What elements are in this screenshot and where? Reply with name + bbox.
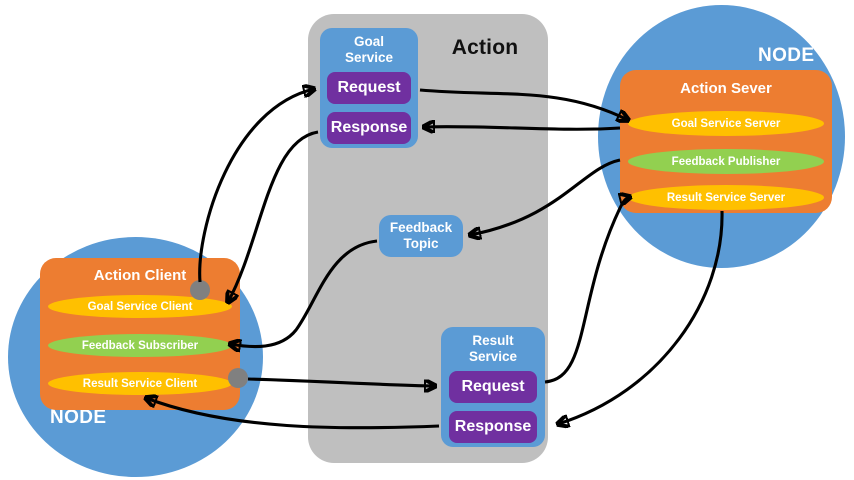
action-client-title: Action Client (40, 267, 240, 284)
result-service-box: Result Service Request Response (441, 327, 545, 447)
goal-service-response-pill[interactable]: Response (327, 112, 411, 144)
goal-service-title: Goal Service (320, 34, 418, 66)
result-service-title-line1: Result (472, 333, 513, 348)
result-service-title-line2: Service (469, 349, 517, 364)
feedback-publisher-ellipse[interactable]: Feedback Publisher (628, 149, 824, 174)
action-server-box: Action Sever Goal Service Server Feedbac… (620, 70, 832, 213)
result-client-connector-dot (228, 368, 248, 388)
action-client-box: Action Client Goal Service Client Feedba… (40, 258, 240, 410)
client-node-label: NODE (50, 407, 107, 429)
goal-service-request-pill[interactable]: Request (327, 72, 411, 104)
feedback-topic-line2: Topic (404, 236, 439, 251)
goal-service-title-line2: Service (345, 50, 393, 65)
server-node-label: NODE (758, 45, 815, 67)
result-service-response-pill[interactable]: Response (449, 411, 537, 443)
feedback-topic-line1: Feedback (390, 220, 452, 235)
result-service-client-ellipse[interactable]: Result Service Client (48, 372, 232, 395)
diagram-canvas: Action Goal Service Request Response Fee… (0, 0, 854, 480)
result-service-title: Result Service (441, 333, 545, 365)
result-service-request-pill[interactable]: Request (449, 371, 537, 403)
result-service-server-ellipse[interactable]: Result Service Server (628, 185, 824, 210)
feedback-topic-label: Feedback Topic (390, 220, 452, 252)
arrow-result-request-to-server (545, 197, 630, 382)
goal-service-server-ellipse[interactable]: Goal Service Server (628, 111, 824, 136)
action-panel-label: Action (430, 36, 540, 60)
goal-service-title-line1: Goal (354, 34, 384, 49)
arrow-goal-response-to-client (228, 132, 318, 302)
goal-service-box: Goal Service Request Response (320, 28, 418, 148)
feedback-topic-box[interactable]: Feedback Topic (379, 215, 463, 257)
goal-client-connector-dot (190, 280, 210, 300)
arrow-goal-client-to-request (200, 89, 314, 282)
feedback-subscriber-ellipse[interactable]: Feedback Subscriber (48, 334, 232, 357)
action-server-title: Action Sever (620, 80, 832, 97)
